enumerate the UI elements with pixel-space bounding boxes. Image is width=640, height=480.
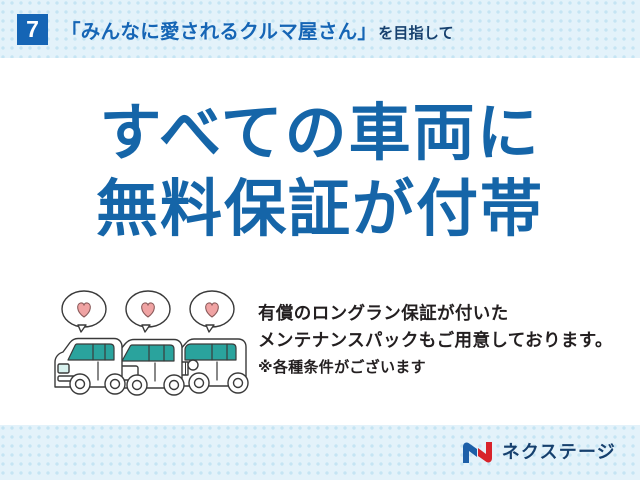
heart-bubble-3 (190, 291, 234, 332)
headline-line-2: 無料保証が付帯 (0, 172, 640, 248)
heart-bubble-1 (62, 291, 106, 332)
header: 7 「みんなに愛されるクルマ屋さん」 を目指して (0, 0, 640, 58)
header-slogan: 「みんなに愛されるクルマ屋さん」 を目指して (61, 15, 454, 44)
middle-section: 有償のロングラン保証が付いた メンテナンスパックもご用意しております。 ※各種条… (0, 288, 640, 403)
body-copy: 有償のロングラン保証が付いた メンテナンスパックもご用意しております。 ※各種条… (258, 300, 628, 381)
brand-name: ネクステージ (502, 441, 616, 464)
advertisement-page: 7 「みんなに愛されるクルマ屋さん」 を目指して すべての車両に 無料保証が付帯 (0, 0, 640, 480)
body-copy-line-1: 有償のロングラン保証が付いた (258, 300, 628, 327)
section-number-badge: 7 (17, 14, 48, 45)
brand-logo: ネクステージ (462, 437, 616, 467)
body-copy-note: ※各種条件がございます (258, 354, 628, 381)
body-copy-line-2: メンテナンスパックもご用意しております。 (258, 327, 628, 354)
header-slogan-tail: を目指して (378, 22, 454, 43)
headline: すべての車両に 無料保証が付帯 (0, 96, 640, 248)
car-kei-wagon (55, 339, 125, 395)
headline-line-1: すべての車両に (0, 96, 640, 172)
heart-bubble-2 (126, 291, 170, 332)
cars-illustration (52, 288, 257, 398)
header-slogan-main: 「みんなに愛されるクルマ屋さん」 (61, 15, 377, 44)
nextage-n-icon (462, 441, 493, 464)
